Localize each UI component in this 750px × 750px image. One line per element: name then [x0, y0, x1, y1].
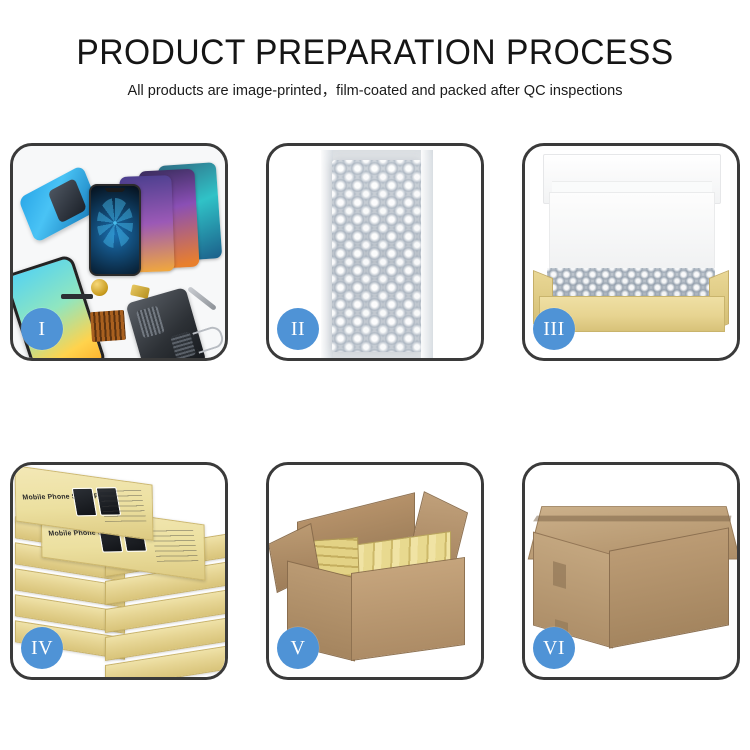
- step-badge-1: I: [21, 308, 63, 350]
- step-panel-5[interactable]: V: [266, 462, 484, 680]
- sealed-carton-tape-upper: [553, 561, 566, 589]
- screen-protector-film-icon: [18, 165, 100, 243]
- retail-box-spec-lines: [99, 489, 146, 522]
- step-badge-3: III: [533, 308, 575, 350]
- retail-box-spec-lines: [151, 529, 198, 562]
- step-panel-2[interactable]: II: [266, 143, 484, 361]
- bubble-wrap-bubbles: [332, 160, 422, 352]
- spare-part-ic-chip-grid: [90, 310, 126, 342]
- carton-front-panel: [351, 557, 465, 661]
- spare-part-flex-cable: [61, 294, 93, 299]
- sealed-carton-top-seam: [533, 516, 731, 522]
- phone-notch-icon: [105, 188, 125, 192]
- step-panel-4[interactable]: Mobile Phone Spare Parts Mobile Phone Sp…: [10, 462, 228, 680]
- spare-part-gold-plate: [130, 284, 150, 299]
- step-panel-1[interactable]: I: [10, 143, 228, 361]
- step-badge-2: II: [277, 308, 319, 350]
- step-badge-5: V: [277, 627, 319, 669]
- page-subtitle: All products are image-printed，film-coat…: [11, 73, 739, 100]
- page-title: PRODUCT PREPARATION PROCESS: [15, 0, 735, 73]
- retail-box-product-thumbnail: [72, 488, 98, 517]
- step-panel-6[interactable]: VI: [522, 462, 740, 680]
- phone-wallpaper-graphic: [97, 198, 133, 248]
- process-steps-grid: I II III: [10, 143, 740, 680]
- product-preparation-infographic: PRODUCT PREPARATION PROCESS All products…: [0, 0, 750, 750]
- repair-tool-icon: [187, 286, 217, 311]
- step-badge-4: IV: [21, 627, 63, 669]
- bubble-wrap-sheet: [321, 150, 433, 358]
- phone-device-d: [89, 184, 141, 276]
- header: PRODUCT PREPARATION PROCESS All products…: [0, 0, 750, 100]
- spare-part-coin-icon: [91, 279, 108, 296]
- step-panel-3[interactable]: III: [522, 143, 740, 361]
- bubble-wrap-seal-right: [421, 150, 433, 358]
- phone-back-housing: [125, 287, 206, 358]
- inner-box-foam-liner: [549, 192, 715, 274]
- step-badge-6: VI: [533, 627, 575, 669]
